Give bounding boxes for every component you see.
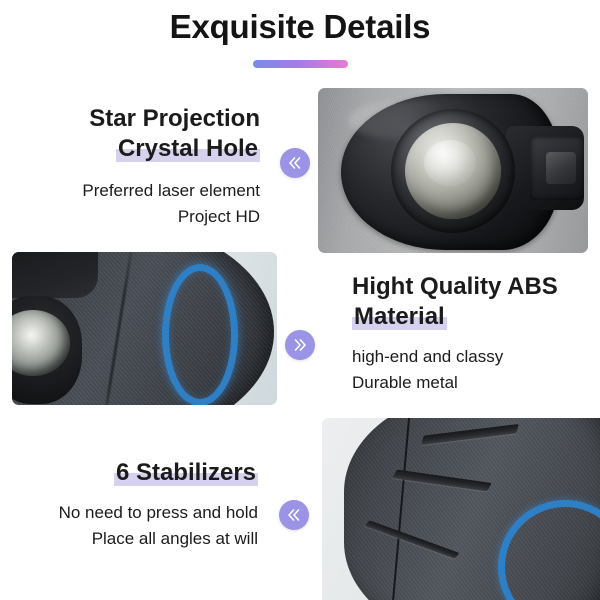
feature-3-body-line1: No need to press and hold xyxy=(20,500,258,526)
double-chevron-left-icon-1[interactable] xyxy=(280,148,310,178)
feature-1-heading: Star Projection Crystal Hole xyxy=(34,104,260,164)
feature-2-body-line1: high-end and classy xyxy=(352,344,582,370)
feature-block-star-projection: Star Projection Crystal Hole Preferred l… xyxy=(34,104,260,229)
product-photo-blue-ring xyxy=(12,252,277,405)
photo1-lens-glare xyxy=(424,140,476,186)
feature-1-heading-line2: Crystal Hole xyxy=(116,135,260,162)
feature-block-abs-material: Hight Quality ABS Material high-end and … xyxy=(352,272,582,395)
feature-3-heading-line1: 6 Stabilizers xyxy=(114,459,258,486)
product-detail-infographic: Exquisite Details xyxy=(0,0,600,600)
feature-2-heading-line2: Material xyxy=(352,303,447,330)
feature-3-body: No need to press and hold Place all angl… xyxy=(20,500,258,551)
feature-3-body-line2: Place all angles at will xyxy=(20,526,258,552)
title-accent-bar xyxy=(253,60,348,68)
feature-1-body: Preferred laser element Project HD xyxy=(34,178,260,229)
double-chevron-left-icon-3[interactable] xyxy=(279,500,309,530)
page-title: Exquisite Details xyxy=(0,8,600,46)
feature-2-body-line2: Durable metal xyxy=(352,370,582,396)
photo2-blue-ring-button xyxy=(162,264,238,405)
product-photo-stabilizers xyxy=(322,418,600,600)
photo1-sensor-square xyxy=(546,152,576,184)
feature-1-heading-line1: Star Projection xyxy=(89,105,260,132)
product-photo-crystal-lens xyxy=(318,88,588,253)
feature-2-body: high-end and classy Durable metal xyxy=(352,344,582,395)
feature-3-heading: 6 Stabilizers xyxy=(20,458,258,488)
feature-1-body-line2: Project HD xyxy=(34,204,260,230)
feature-1-body-line1: Preferred laser element xyxy=(34,178,260,204)
double-chevron-right-icon-2[interactable] xyxy=(285,330,315,360)
feature-block-stabilizers: 6 Stabilizers No need to press and hold … xyxy=(20,458,258,551)
feature-2-heading-line1: Hight Quality ABS xyxy=(352,273,558,300)
feature-2-heading: Hight Quality ABS Material xyxy=(352,272,582,332)
photo2-dark-top xyxy=(12,252,98,298)
